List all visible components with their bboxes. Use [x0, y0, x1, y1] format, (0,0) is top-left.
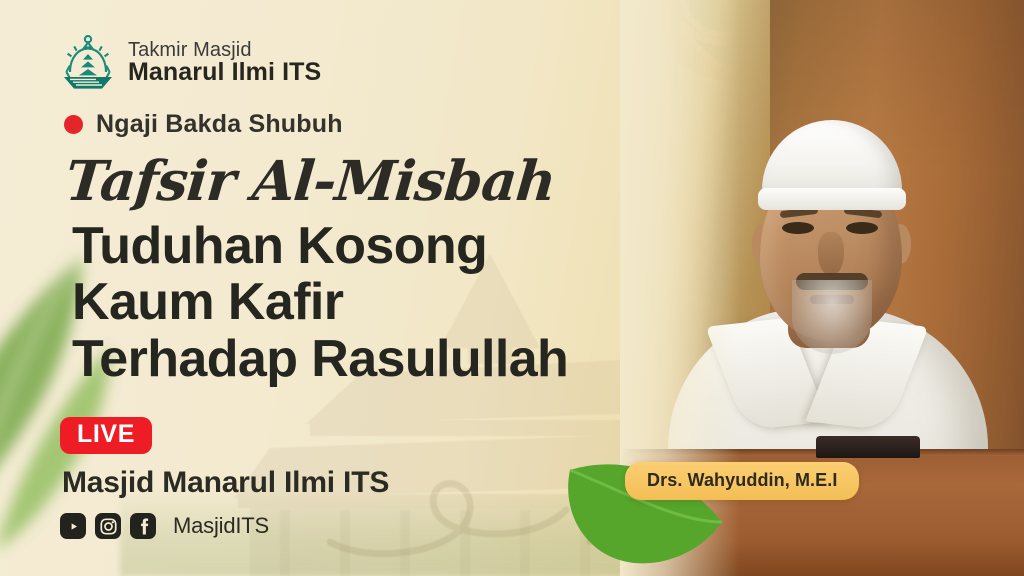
- live-red-dot-icon: [64, 115, 83, 134]
- speaker-nameplate: Drs. Wahyuddin, M.E.I: [625, 462, 859, 500]
- brand-text: Takmir Masjid Manarul Ilmi ITS: [128, 40, 321, 86]
- speaker-beard: [792, 280, 872, 354]
- brand-line-2: Manarul Ilmi ITS: [128, 60, 321, 86]
- mosque-book-emblem-icon: [60, 34, 116, 92]
- instagram-icon[interactable]: [95, 513, 121, 539]
- desk-object: [816, 436, 920, 458]
- title-line-1: Tuduhan Kosong: [72, 218, 662, 274]
- series-title: Tafsir Al-Misbah: [63, 148, 558, 213]
- brand-block: Takmir Masjid Manarul Ilmi ITS: [60, 34, 321, 92]
- page-title: Tuduhan Kosong Kaum Kafir Terhadap Rasul…: [72, 218, 662, 387]
- speaker-nose: [818, 232, 844, 276]
- youtube-icon[interactable]: [60, 513, 86, 539]
- speaker-eye-left: [782, 222, 814, 234]
- brand-line-1: Takmir Masjid: [128, 40, 321, 60]
- status-badge: LIVE: [60, 417, 152, 454]
- livestream-thumbnail: Takmir Masjid Manarul Ilmi ITS Ngaji Bak…: [0, 0, 1024, 576]
- social-handle: MasjidITS: [173, 513, 269, 539]
- content-panel: Takmir Masjid Manarul Ilmi ITS Ngaji Bak…: [0, 0, 660, 576]
- facebook-icon[interactable]: [130, 513, 156, 539]
- venue-name: Masjid Manarul Ilmi ITS: [62, 466, 389, 500]
- program-eyebrow: Ngaji Bakda Shubuh: [64, 110, 343, 139]
- speaker-eye-right: [846, 222, 878, 234]
- social-links: MasjidITS: [60, 513, 269, 539]
- program-name: Ngaji Bakda Shubuh: [96, 110, 343, 139]
- speaker-peci-cap: [762, 120, 902, 204]
- title-line-2: Kaum Kafir: [72, 274, 662, 330]
- title-line-3: Terhadap Rasulullah: [72, 331, 662, 387]
